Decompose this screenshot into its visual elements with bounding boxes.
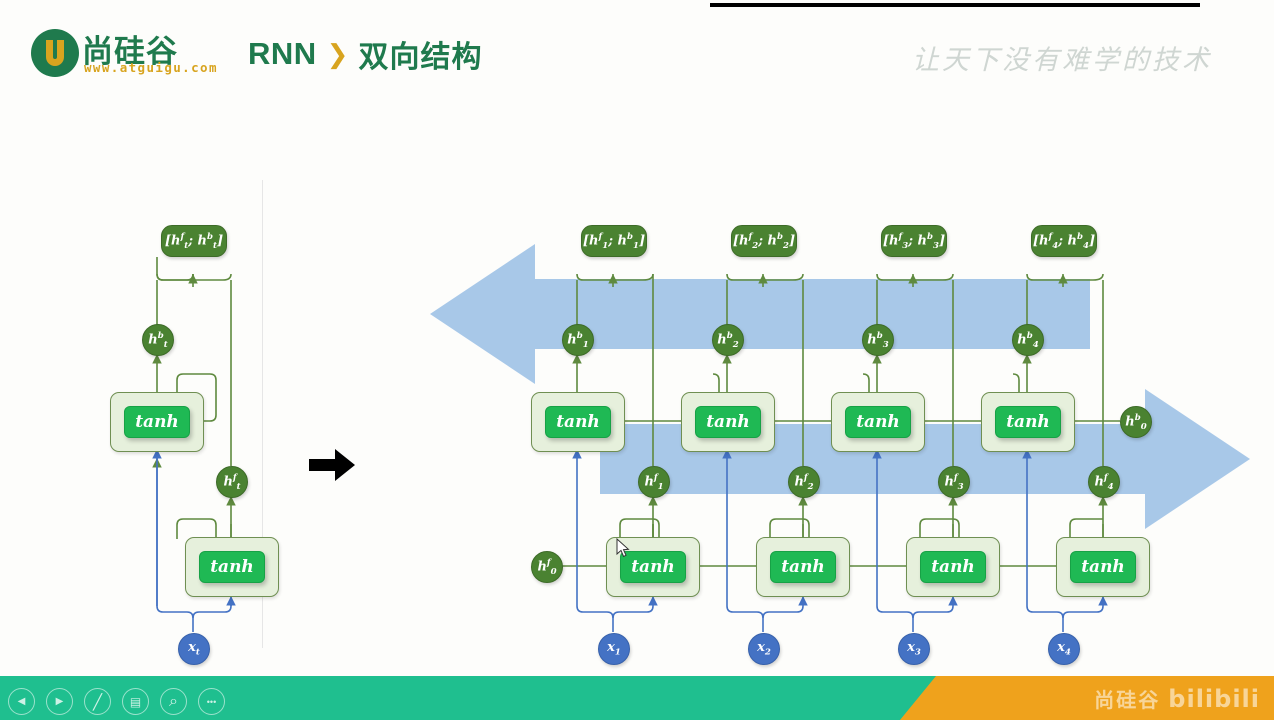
page-title: RNN ❯ 双向结构	[248, 32, 482, 76]
search-icon: ⌕	[169, 693, 178, 711]
backward-tanh-t2: tanh	[695, 406, 761, 438]
backward-direction-band	[430, 244, 1090, 384]
left-concat-node: [hft; hbt]	[161, 225, 227, 257]
chevron-right-icon: ❯	[327, 39, 349, 70]
initial-backward-state-node: hb0	[1120, 406, 1152, 438]
backward-state-node-t2: hb2	[712, 324, 744, 356]
input-node-t4: x4	[1048, 633, 1080, 665]
backward-state-node-t4: hb4	[1012, 324, 1044, 356]
watermark: 尚硅谷 bilibili	[1094, 684, 1260, 713]
backward-tanh-t1: tanh	[545, 406, 611, 438]
title-english: RNN	[248, 36, 317, 72]
layout-icon: ▤	[130, 695, 141, 709]
watermark-site: bilibili	[1168, 685, 1260, 713]
forward-state-node-t1: hf1	[638, 466, 670, 498]
layout-view-button[interactable]: ▤	[122, 688, 149, 715]
pen-icon: ╱	[93, 693, 102, 711]
concat-node-t2: [hf2; hb2]	[731, 225, 797, 257]
left-concat-label: [hft; hbt]	[165, 232, 223, 251]
concat-node-t4: [hf4; hb4]	[1031, 225, 1097, 257]
forward-tanh-t2: tanh	[770, 551, 836, 583]
slide-viewer: 尚硅谷 www.atguigu.com RNN ❯ 双向结构 让天下没有难学的技…	[0, 0, 1274, 720]
forward-state-node-t3: hf3	[938, 466, 970, 498]
backward-tanh-t4: tanh	[995, 406, 1061, 438]
next-icon: ▶	[56, 696, 64, 707]
brand-url: www.atguigu.com	[84, 60, 218, 75]
toolbar-buttons: ◀ ▶ ╱ ▤ ⌕ •••	[8, 688, 225, 715]
input-node-t1: x1	[598, 633, 630, 665]
initial-forward-state-node: hf0	[531, 551, 563, 583]
concat-node-t3: [hf3; hb3]	[881, 225, 947, 257]
diagram-canvas: [hft; hbt] hbt tanh hft tanh xt [hf1; hb…	[0, 84, 1274, 660]
forward-tanh-t3: tanh	[920, 551, 986, 583]
transition-arrow-icon	[309, 449, 355, 481]
brand-logo: 尚硅谷 www.atguigu.com	[30, 26, 220, 80]
title-chinese: 双向结构	[358, 32, 482, 76]
input-node-t2: x2	[748, 633, 780, 665]
prev-icon: ◀	[18, 696, 26, 707]
concat-node-t1: [hf1; hb1]	[581, 225, 647, 257]
pen-tool-button[interactable]: ╱	[84, 688, 111, 715]
top-black-strip	[710, 3, 1200, 7]
left-forward-state-node: hft	[216, 466, 248, 498]
brand-slogan: 让天下没有难学的技术	[912, 38, 1212, 77]
left-backward-state-node: hbt	[142, 324, 174, 356]
forward-tanh-t4: tanh	[1070, 551, 1136, 583]
forward-state-node-t4: hf4	[1088, 466, 1120, 498]
slide-header: 尚硅谷 www.atguigu.com RNN ❯ 双向结构 让天下没有难学的技…	[0, 10, 1274, 82]
search-button[interactable]: ⌕	[160, 688, 187, 715]
left-input-node: xt	[178, 633, 210, 665]
next-slide-button[interactable]: ▶	[46, 688, 73, 715]
left-backward-tanh: tanh	[124, 406, 190, 438]
previous-slide-button[interactable]: ◀	[8, 688, 35, 715]
backward-state-node-t3: hb3	[862, 324, 894, 356]
watermark-brand: 尚硅谷	[1094, 684, 1160, 713]
atguigu-logo-icon	[30, 28, 80, 78]
backward-state-node-t1: hb1	[562, 324, 594, 356]
input-node-t3: x3	[898, 633, 930, 665]
mouse-cursor	[616, 538, 630, 558]
forward-state-node-t2: hf2	[788, 466, 820, 498]
left-forward-tanh: tanh	[199, 551, 265, 583]
more-icon: •••	[207, 697, 216, 707]
backward-tanh-t3: tanh	[845, 406, 911, 438]
more-options-button[interactable]: •••	[198, 688, 225, 715]
